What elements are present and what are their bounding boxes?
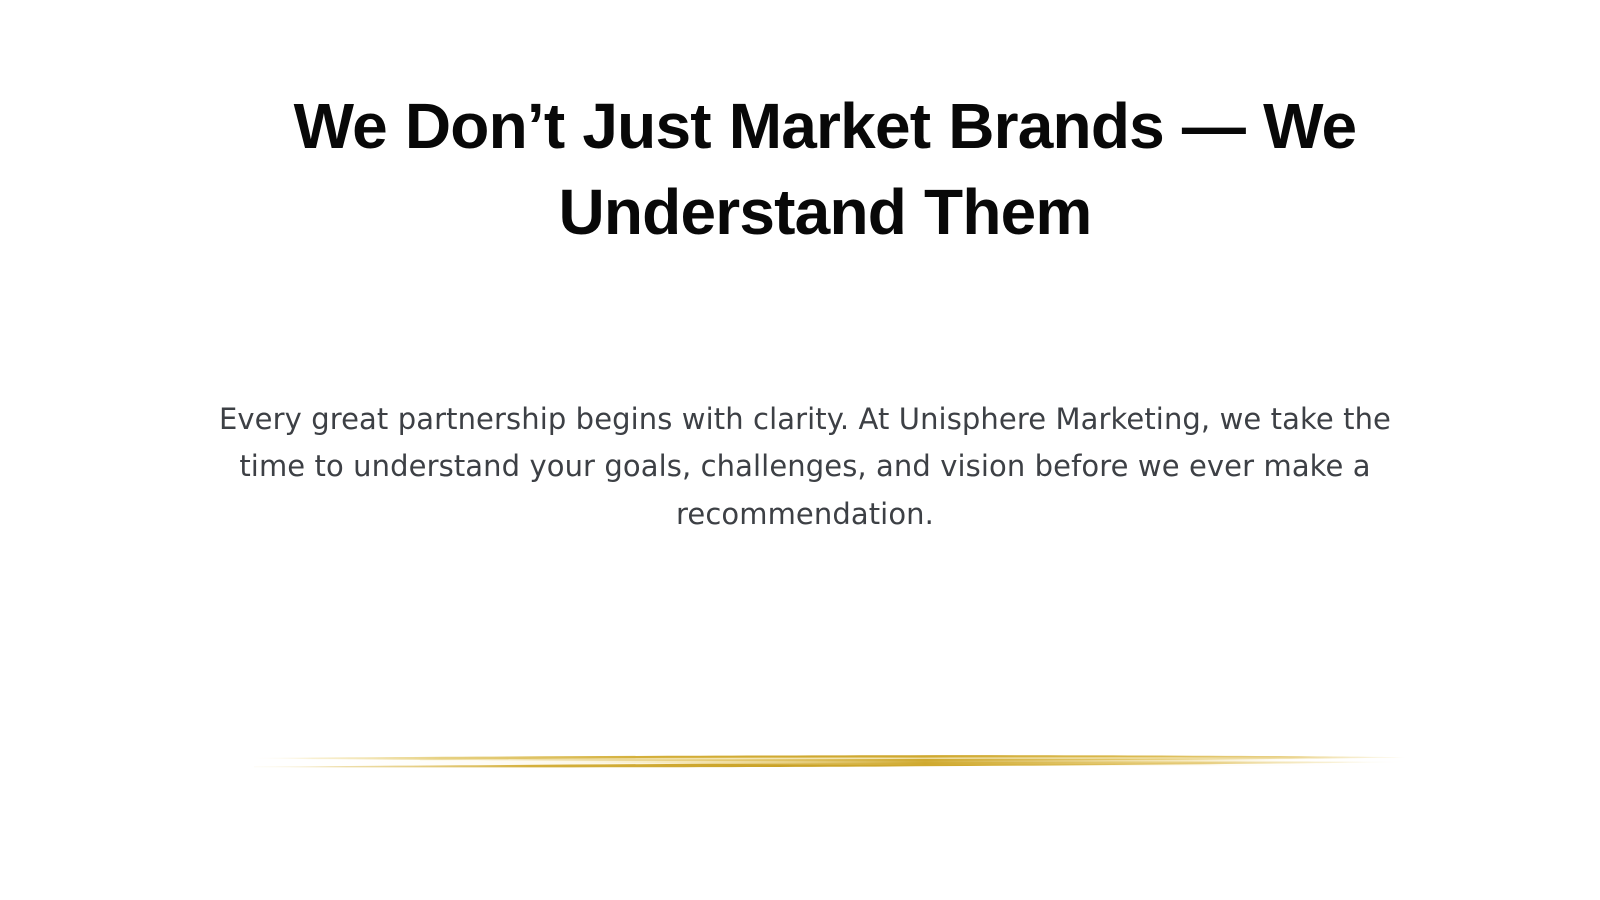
divider-core (510, 757, 1340, 765)
body-paragraph: Every great partnership begins with clar… (200, 396, 1410, 538)
divider-highlight (420, 758, 1370, 761)
divider-container (210, 726, 1450, 798)
page-title: We Don’t Just Market Brands — We Underst… (200, 84, 1450, 256)
divider-blade-upper (256, 755, 1406, 761)
divider-glow (280, 759, 1390, 766)
body-block: Every great partnership begins with clar… (200, 396, 1410, 538)
heading-block: We Don’t Just Market Brands — We Underst… (200, 84, 1450, 256)
divider-blade-lower (254, 761, 1408, 767)
gold-divider-icon (210, 726, 1450, 798)
slide-canvas: We Don’t Just Market Brands — We Underst… (0, 0, 1600, 900)
